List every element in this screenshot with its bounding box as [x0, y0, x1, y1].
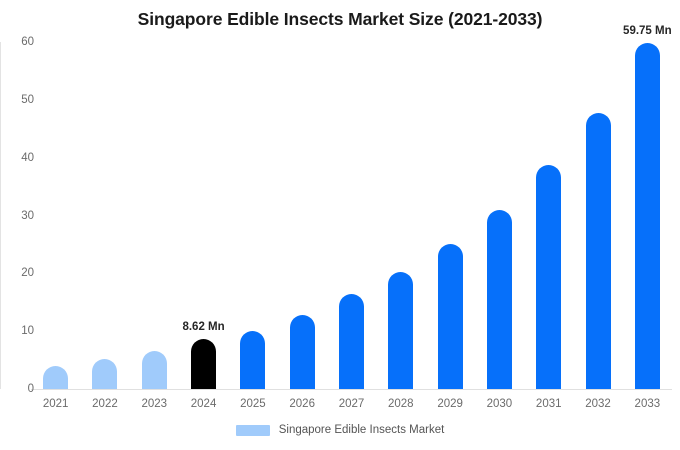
x-axis-tick-label-2026: 2026 — [289, 398, 315, 410]
bar-2027[interactable] — [339, 294, 364, 389]
bar-slot — [290, 42, 315, 389]
bar-2021[interactable] — [43, 366, 68, 389]
chart-title: Singapore Edible Insects Market Size (20… — [0, 9, 680, 30]
x-axis-tick-label-2028: 2028 — [388, 398, 414, 410]
x-axis-tick-label-2029: 2029 — [437, 398, 463, 410]
x-axis-tick-label-2030: 2030 — [487, 398, 513, 410]
bar-2029[interactable] — [438, 244, 463, 389]
bar-slot — [142, 42, 167, 389]
chart-legend: Singapore Edible Insects Market — [0, 424, 680, 436]
bar-slot — [487, 42, 512, 389]
bar-2024[interactable] — [191, 339, 216, 389]
x-axis-tick-label-2024: 2024 — [191, 398, 217, 410]
bar-value-label-2024: 8.62 Mn — [182, 321, 224, 333]
x-axis-tick-label-2021: 2021 — [43, 398, 69, 410]
bar-slot — [388, 42, 413, 389]
x-axis-tick-label-2023: 2023 — [141, 398, 167, 410]
bar-2032[interactable] — [586, 113, 611, 389]
bar-2033[interactable] — [635, 43, 660, 389]
bar-slot — [240, 42, 265, 389]
bar-value-label-2033: 59.75 Mn — [623, 25, 672, 37]
plot-area: 8.62 Mn59.75 Mn — [31, 42, 672, 389]
bar-2031[interactable] — [536, 165, 561, 389]
bar-slot — [92, 42, 117, 389]
bar-slot: 59.75 Mn — [635, 42, 660, 389]
legend-swatch-singapore-edible-insects-market — [236, 425, 270, 436]
x-axis-line — [31, 389, 672, 390]
x-axis-tick-label-2025: 2025 — [240, 398, 266, 410]
bar-slot — [43, 42, 68, 389]
bar-2028[interactable] — [388, 272, 413, 389]
bar-2022[interactable] — [92, 359, 117, 389]
y-axis-line — [0, 42, 1, 389]
bar-2026[interactable] — [290, 315, 315, 389]
bar-slot — [586, 42, 611, 389]
bar-slot — [438, 42, 463, 389]
bar-slot — [339, 42, 364, 389]
x-axis-tick-label-2022: 2022 — [92, 398, 118, 410]
x-axis-tick-label-2033: 2033 — [635, 398, 661, 410]
legend-label-singapore-edible-insects-market: Singapore Edible Insects Market — [279, 424, 445, 436]
bar-2025[interactable] — [240, 331, 265, 389]
x-axis-tick-label-2032: 2032 — [585, 398, 611, 410]
x-axis-tick-label-2027: 2027 — [339, 398, 365, 410]
bar-slot: 8.62 Mn — [191, 42, 216, 389]
bar-2030[interactable] — [487, 210, 512, 389]
bar-2023[interactable] — [142, 351, 167, 389]
x-axis-tick-label-2031: 2031 — [536, 398, 562, 410]
chart-container: Singapore Edible Insects Market Size (20… — [0, 0, 680, 450]
bar-slot — [536, 42, 561, 389]
